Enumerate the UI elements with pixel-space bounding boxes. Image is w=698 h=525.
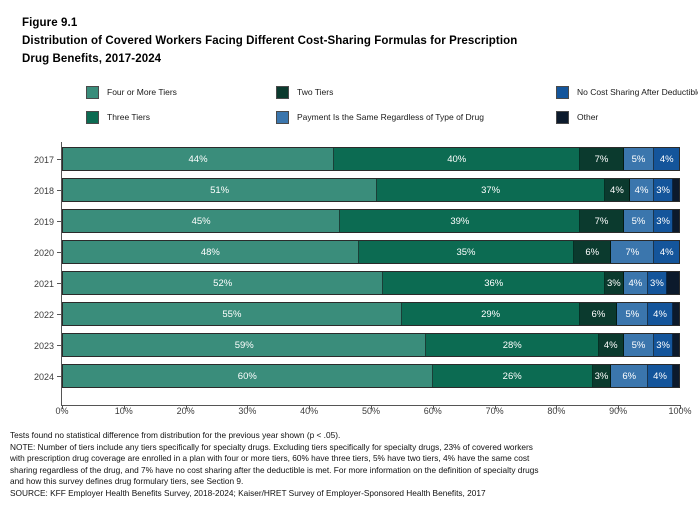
x-axis-tick-label-60: 60%	[413, 406, 453, 416]
bar-segment-no-cost-sharing-after-deductible-is-met[interactable]: 3%	[654, 334, 672, 356]
footnote-significance: Tests found no statistical difference fr…	[10, 430, 690, 442]
y-axis-tick-mark	[57, 190, 61, 191]
x-axis-tick-label-70: 70%	[475, 406, 515, 416]
y-axis-tick-mark	[57, 252, 61, 253]
page-title: Figure 9.1 Distribution of Covered Worke…	[22, 14, 672, 68]
bar-segment-three-tiers[interactable]: 35%	[359, 241, 575, 263]
bar-segment-value-label: 3%	[595, 371, 609, 382]
y-axis-tick-label: 2017	[34, 155, 54, 165]
bar-segment-other[interactable]	[667, 272, 679, 294]
y-axis-tick-2017: 2017	[0, 144, 61, 175]
bar-segment-four-or-more-tiers[interactable]: 59%	[63, 334, 426, 356]
bar-segment-value-label: 29%	[481, 309, 500, 320]
bar-segment-value-label: 28%	[503, 340, 522, 351]
bar-segment-two-tiers[interactable]: 3%	[593, 365, 611, 387]
bar-segment-no-cost-sharing-after-deductible-is-met[interactable]: 4%	[654, 148, 679, 170]
bar-segment-three-tiers[interactable]: 37%	[377, 179, 605, 201]
bar-segment-value-label: 55%	[222, 309, 241, 320]
bar-segment-four-or-more-tiers[interactable]: 51%	[63, 179, 377, 201]
bar-segment-three-tiers[interactable]: 40%	[334, 148, 580, 170]
bar-segment-value-label: 7%	[595, 216, 609, 227]
bar-segment-no-cost-sharing-after-deductible-is-met[interactable]: 4%	[648, 303, 673, 325]
bar-segment-value-label: 40%	[447, 154, 466, 165]
bar-segment-payment-is-the-same-regardless-of-type-of-drug[interactable]: 5%	[624, 210, 655, 232]
legend-swatch-icon	[276, 111, 289, 124]
bar-segment-payment-is-the-same-regardless-of-type-of-drug[interactable]: 5%	[624, 334, 655, 356]
bar-segment-two-tiers[interactable]: 3%	[605, 272, 623, 294]
bar-segment-payment-is-the-same-regardless-of-type-of-drug[interactable]: 5%	[624, 148, 655, 170]
bar-segment-value-label: 6%	[622, 371, 636, 382]
chart-legend: Four or More TiersThree TiersTwo TiersPa…	[86, 86, 686, 132]
legend-swatch-icon	[86, 86, 99, 99]
legend-item-four-or-more-tiers[interactable]: Four or More Tiers	[86, 86, 177, 99]
footnote-note-line-3: sharing regardless of the drug, and 7% h…	[10, 465, 690, 477]
bar-segment-value-label: 45%	[192, 216, 211, 227]
bar-segment-value-label: 3%	[656, 216, 670, 227]
legend-swatch-icon	[556, 111, 569, 124]
bar-segment-value-label: 59%	[235, 340, 254, 351]
legend-swatch-icon	[276, 86, 289, 99]
y-axis-tick-mark	[57, 345, 61, 346]
bar-segment-value-label: 6%	[585, 247, 599, 258]
y-axis-tick-2021: 2021	[0, 268, 61, 299]
bar-segment-payment-is-the-same-regardless-of-type-of-drug[interactable]: 7%	[611, 241, 654, 263]
bar-segment-value-label: 5%	[625, 309, 639, 320]
bar-segment-value-label: 52%	[213, 278, 232, 289]
bar-segment-value-label: 3%	[650, 278, 664, 289]
y-axis-tick-mark	[57, 314, 61, 315]
bar-segment-value-label: 51%	[210, 185, 229, 196]
y-axis-tick-mark	[57, 283, 61, 284]
bar-segment-two-tiers[interactable]: 6%	[574, 241, 611, 263]
bar-segment-four-or-more-tiers[interactable]: 60%	[63, 365, 433, 387]
y-axis-tick-2018: 2018	[0, 175, 61, 206]
bar-segment-three-tiers[interactable]: 39%	[340, 210, 580, 232]
footnotes: Tests found no statistical difference fr…	[10, 430, 690, 500]
bar-segment-other[interactable]	[673, 179, 679, 201]
x-axis-tick-label-80: 80%	[536, 406, 576, 416]
bar-segment-value-label: 3%	[607, 278, 621, 289]
bar-segment-two-tiers[interactable]: 4%	[605, 179, 630, 201]
y-axis-tick-2019: 2019	[0, 206, 61, 237]
legend-item-label: No Cost Sharing After Deductible Is Met	[577, 86, 698, 99]
bar-segment-value-label: 60%	[238, 371, 257, 382]
bar-segment-no-cost-sharing-after-deductible-is-met[interactable]: 3%	[648, 272, 666, 294]
bar-segment-two-tiers[interactable]: 4%	[599, 334, 624, 356]
bar-segment-value-label: 3%	[656, 340, 670, 351]
y-axis-tick-label: 2024	[34, 372, 54, 382]
bar-segment-no-cost-sharing-after-deductible-is-met[interactable]: 3%	[654, 179, 672, 201]
x-axis-tick-label-50: 50%	[351, 406, 391, 416]
bar-segment-other[interactable]	[673, 365, 679, 387]
y-axis-tick-label: 2023	[34, 341, 54, 351]
bar-segment-value-label: 36%	[484, 278, 503, 289]
legend-item-label: Payment Is the Same Regardless of Type o…	[297, 111, 484, 124]
legend-item-label: Three Tiers	[107, 111, 150, 124]
bar-segment-value-label: 4%	[635, 185, 649, 196]
bar-row-2023[interactable]: 59%28%4%5%3%	[62, 333, 680, 357]
x-axis-tick-label-0: 0%	[42, 406, 82, 416]
legend-item-label: Four or More Tiers	[107, 86, 177, 99]
bar-segment-value-label: 6%	[592, 309, 606, 320]
x-axis-tick-label-30: 30%	[227, 406, 267, 416]
legend-swatch-icon	[86, 111, 99, 124]
bar-segment-value-label: 4%	[653, 309, 667, 320]
bar-segment-value-label: 37%	[481, 185, 500, 196]
legend-item-other[interactable]: Other	[556, 111, 598, 124]
bar-segment-other[interactable]	[673, 303, 679, 325]
y-axis-tick-label: 2022	[34, 310, 54, 320]
figure-number: Figure 9.1	[22, 14, 672, 32]
bar-segment-four-or-more-tiers[interactable]: 52%	[63, 272, 383, 294]
bar-segment-value-label: 7%	[595, 154, 609, 165]
bar-segment-value-label: 4%	[604, 340, 618, 351]
bar-segment-payment-is-the-same-regardless-of-type-of-drug[interactable]: 4%	[624, 272, 649, 294]
bar-row-2021[interactable]: 52%36%3%4%3%	[62, 271, 680, 295]
bar-segment-no-cost-sharing-after-deductible-is-met[interactable]: 4%	[654, 241, 679, 263]
bar-segment-two-tiers[interactable]: 7%	[580, 210, 623, 232]
legend-item-label: Two Tiers	[297, 86, 333, 99]
bar-segment-four-or-more-tiers[interactable]: 55%	[63, 303, 402, 325]
bar-segment-four-or-more-tiers[interactable]: 44%	[63, 148, 334, 170]
bar-segment-payment-is-the-same-regardless-of-type-of-drug[interactable]: 4%	[630, 179, 655, 201]
bar-segment-three-tiers[interactable]: 29%	[402, 303, 581, 325]
bar-segment-value-label: 48%	[201, 247, 220, 258]
bar-row-2024[interactable]: 60%26%3%6%4%	[62, 364, 680, 388]
footnote-note-line-4: and how this survey defines drug formula…	[10, 476, 690, 488]
legend-item-two-tiers[interactable]: Two Tiers	[276, 86, 333, 99]
bar-row-2017[interactable]: 44%40%7%5%4%	[62, 147, 680, 171]
bar-row-2018[interactable]: 51%37%4%4%3%	[62, 178, 680, 202]
bar-segment-payment-is-the-same-regardless-of-type-of-drug[interactable]: 6%	[611, 365, 648, 387]
y-axis-tick-mark	[57, 221, 61, 222]
title-line-1: Distribution of Covered Workers Facing D…	[22, 32, 672, 50]
bar-segment-no-cost-sharing-after-deductible-is-met[interactable]: 4%	[648, 365, 673, 387]
bar-segment-value-label: 5%	[632, 154, 646, 165]
bar-segment-value-label: 4%	[629, 278, 643, 289]
bar-segment-other[interactable]	[673, 334, 679, 356]
bar-row-2019[interactable]: 45%39%7%5%3%	[62, 209, 680, 233]
y-axis-tick-2022: 2022	[0, 299, 61, 330]
bar-segment-value-label: 7%	[625, 247, 639, 258]
y-axis-tick-2020: 2020	[0, 237, 61, 268]
legend-item-label: Other	[577, 111, 598, 124]
bar-segment-payment-is-the-same-regardless-of-type-of-drug[interactable]: 5%	[617, 303, 648, 325]
footnote-source: SOURCE: KFF Employer Health Benefits Sur…	[10, 488, 690, 500]
bar-segment-three-tiers[interactable]: 36%	[383, 272, 605, 294]
bar-segment-value-label: 39%	[450, 216, 469, 227]
bar-segment-no-cost-sharing-after-deductible-is-met[interactable]: 3%	[654, 210, 672, 232]
bar-segment-value-label: 35%	[456, 247, 475, 258]
bar-segment-value-label: 5%	[632, 216, 646, 227]
x-axis-tick-label-20: 20%	[166, 406, 206, 416]
bar-segment-four-or-more-tiers[interactable]: 45%	[63, 210, 340, 232]
bar-segment-four-or-more-tiers[interactable]: 48%	[63, 241, 359, 263]
y-axis-tick-label: 2021	[34, 279, 54, 289]
y-axis-tick-mark	[57, 159, 61, 160]
bar-segment-two-tiers[interactable]: 6%	[580, 303, 617, 325]
bar-segment-value-label: 3%	[656, 185, 670, 196]
y-axis-tick-label: 2018	[34, 186, 54, 196]
x-axis-tick-label-10: 10%	[104, 406, 144, 416]
bar-row-2022[interactable]: 55%29%6%5%4%	[62, 302, 680, 326]
bar-row-2020[interactable]: 48%35%6%7%4%	[62, 240, 680, 264]
bar-segment-value-label: 26%	[503, 371, 522, 382]
x-axis-tick-label-40: 40%	[289, 406, 329, 416]
bar-segment-value-label: 44%	[189, 154, 208, 165]
bar-segment-value-label: 5%	[632, 340, 646, 351]
y-axis-tick-2023: 2023	[0, 330, 61, 361]
footnote-note-line-2: with prescription drug coverage are enro…	[10, 453, 690, 465]
x-axis-tick-label-100: 100%	[660, 406, 698, 416]
legend-swatch-icon	[556, 86, 569, 99]
legend-item-payment-is-the-same-regardless-of-type-of-drug[interactable]: Payment Is the Same Regardless of Type o…	[276, 111, 484, 124]
y-axis-tick-label: 2019	[34, 217, 54, 227]
legend-item-no-cost-sharing-after-deductible-is-met[interactable]: No Cost Sharing After Deductible Is Met	[556, 86, 698, 99]
y-axis-tick-label: 2020	[34, 248, 54, 258]
x-axis-tick-label-90: 90%	[598, 406, 638, 416]
footnote-note-line-1: NOTE: Number of tiers include any tiers …	[10, 442, 690, 454]
legend-item-three-tiers[interactable]: Three Tiers	[86, 111, 150, 124]
bar-segment-other[interactable]	[673, 210, 679, 232]
y-axis-tick-2024: 2024	[0, 361, 61, 392]
y-axis-tick-mark	[57, 376, 61, 377]
chart-plot-area: 201744%40%7%5%4%201851%37%4%4%3%201945%3…	[0, 140, 698, 425]
bar-segment-two-tiers[interactable]: 7%	[580, 148, 623, 170]
bar-segment-value-label: 4%	[610, 185, 624, 196]
title-line-2: Drug Benefits, 2017-2024	[22, 50, 672, 68]
bar-segment-value-label: 4%	[653, 371, 667, 382]
bar-segment-value-label: 4%	[660, 154, 674, 165]
bar-segment-value-label: 4%	[660, 247, 674, 258]
bar-segment-three-tiers[interactable]: 26%	[433, 365, 593, 387]
bar-segment-three-tiers[interactable]: 28%	[426, 334, 598, 356]
